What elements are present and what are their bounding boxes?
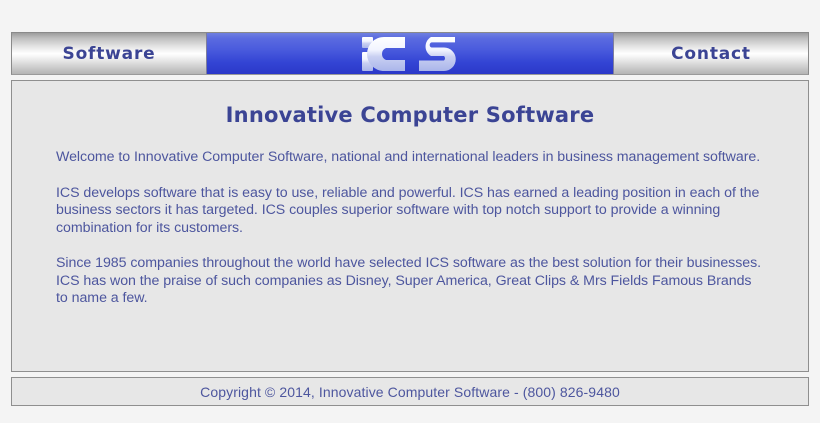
clients-paragraph: Since 1985 companies throughout the worl…: [56, 255, 764, 308]
body-copy: Welcome to Innovative Computer Software,…: [12, 149, 808, 308]
page-title: Innovative Computer Software: [12, 81, 808, 127]
nav-item-software-label: Software: [63, 44, 156, 64]
copyright-text: Copyright © 2014, Innovative Computer So…: [200, 384, 620, 400]
site-footer: Copyright © 2014, Innovative Computer So…: [11, 377, 809, 406]
nav-item-software[interactable]: Software: [12, 33, 206, 74]
product-paragraph: ICS develops software that is easy to us…: [56, 185, 764, 238]
main-navigation: Software: [11, 32, 809, 75]
ics-logo-icon: [362, 37, 458, 71]
site-container: Software: [11, 32, 809, 413]
site-logo-panel[interactable]: [206, 33, 614, 74]
intro-paragraph: Welcome to Innovative Computer Software,…: [56, 149, 764, 167]
nav-item-contact[interactable]: Contact: [614, 33, 808, 74]
nav-item-contact-label: Contact: [671, 44, 751, 64]
main-content-panel: Innovative Computer Software Welcome to …: [11, 80, 809, 372]
